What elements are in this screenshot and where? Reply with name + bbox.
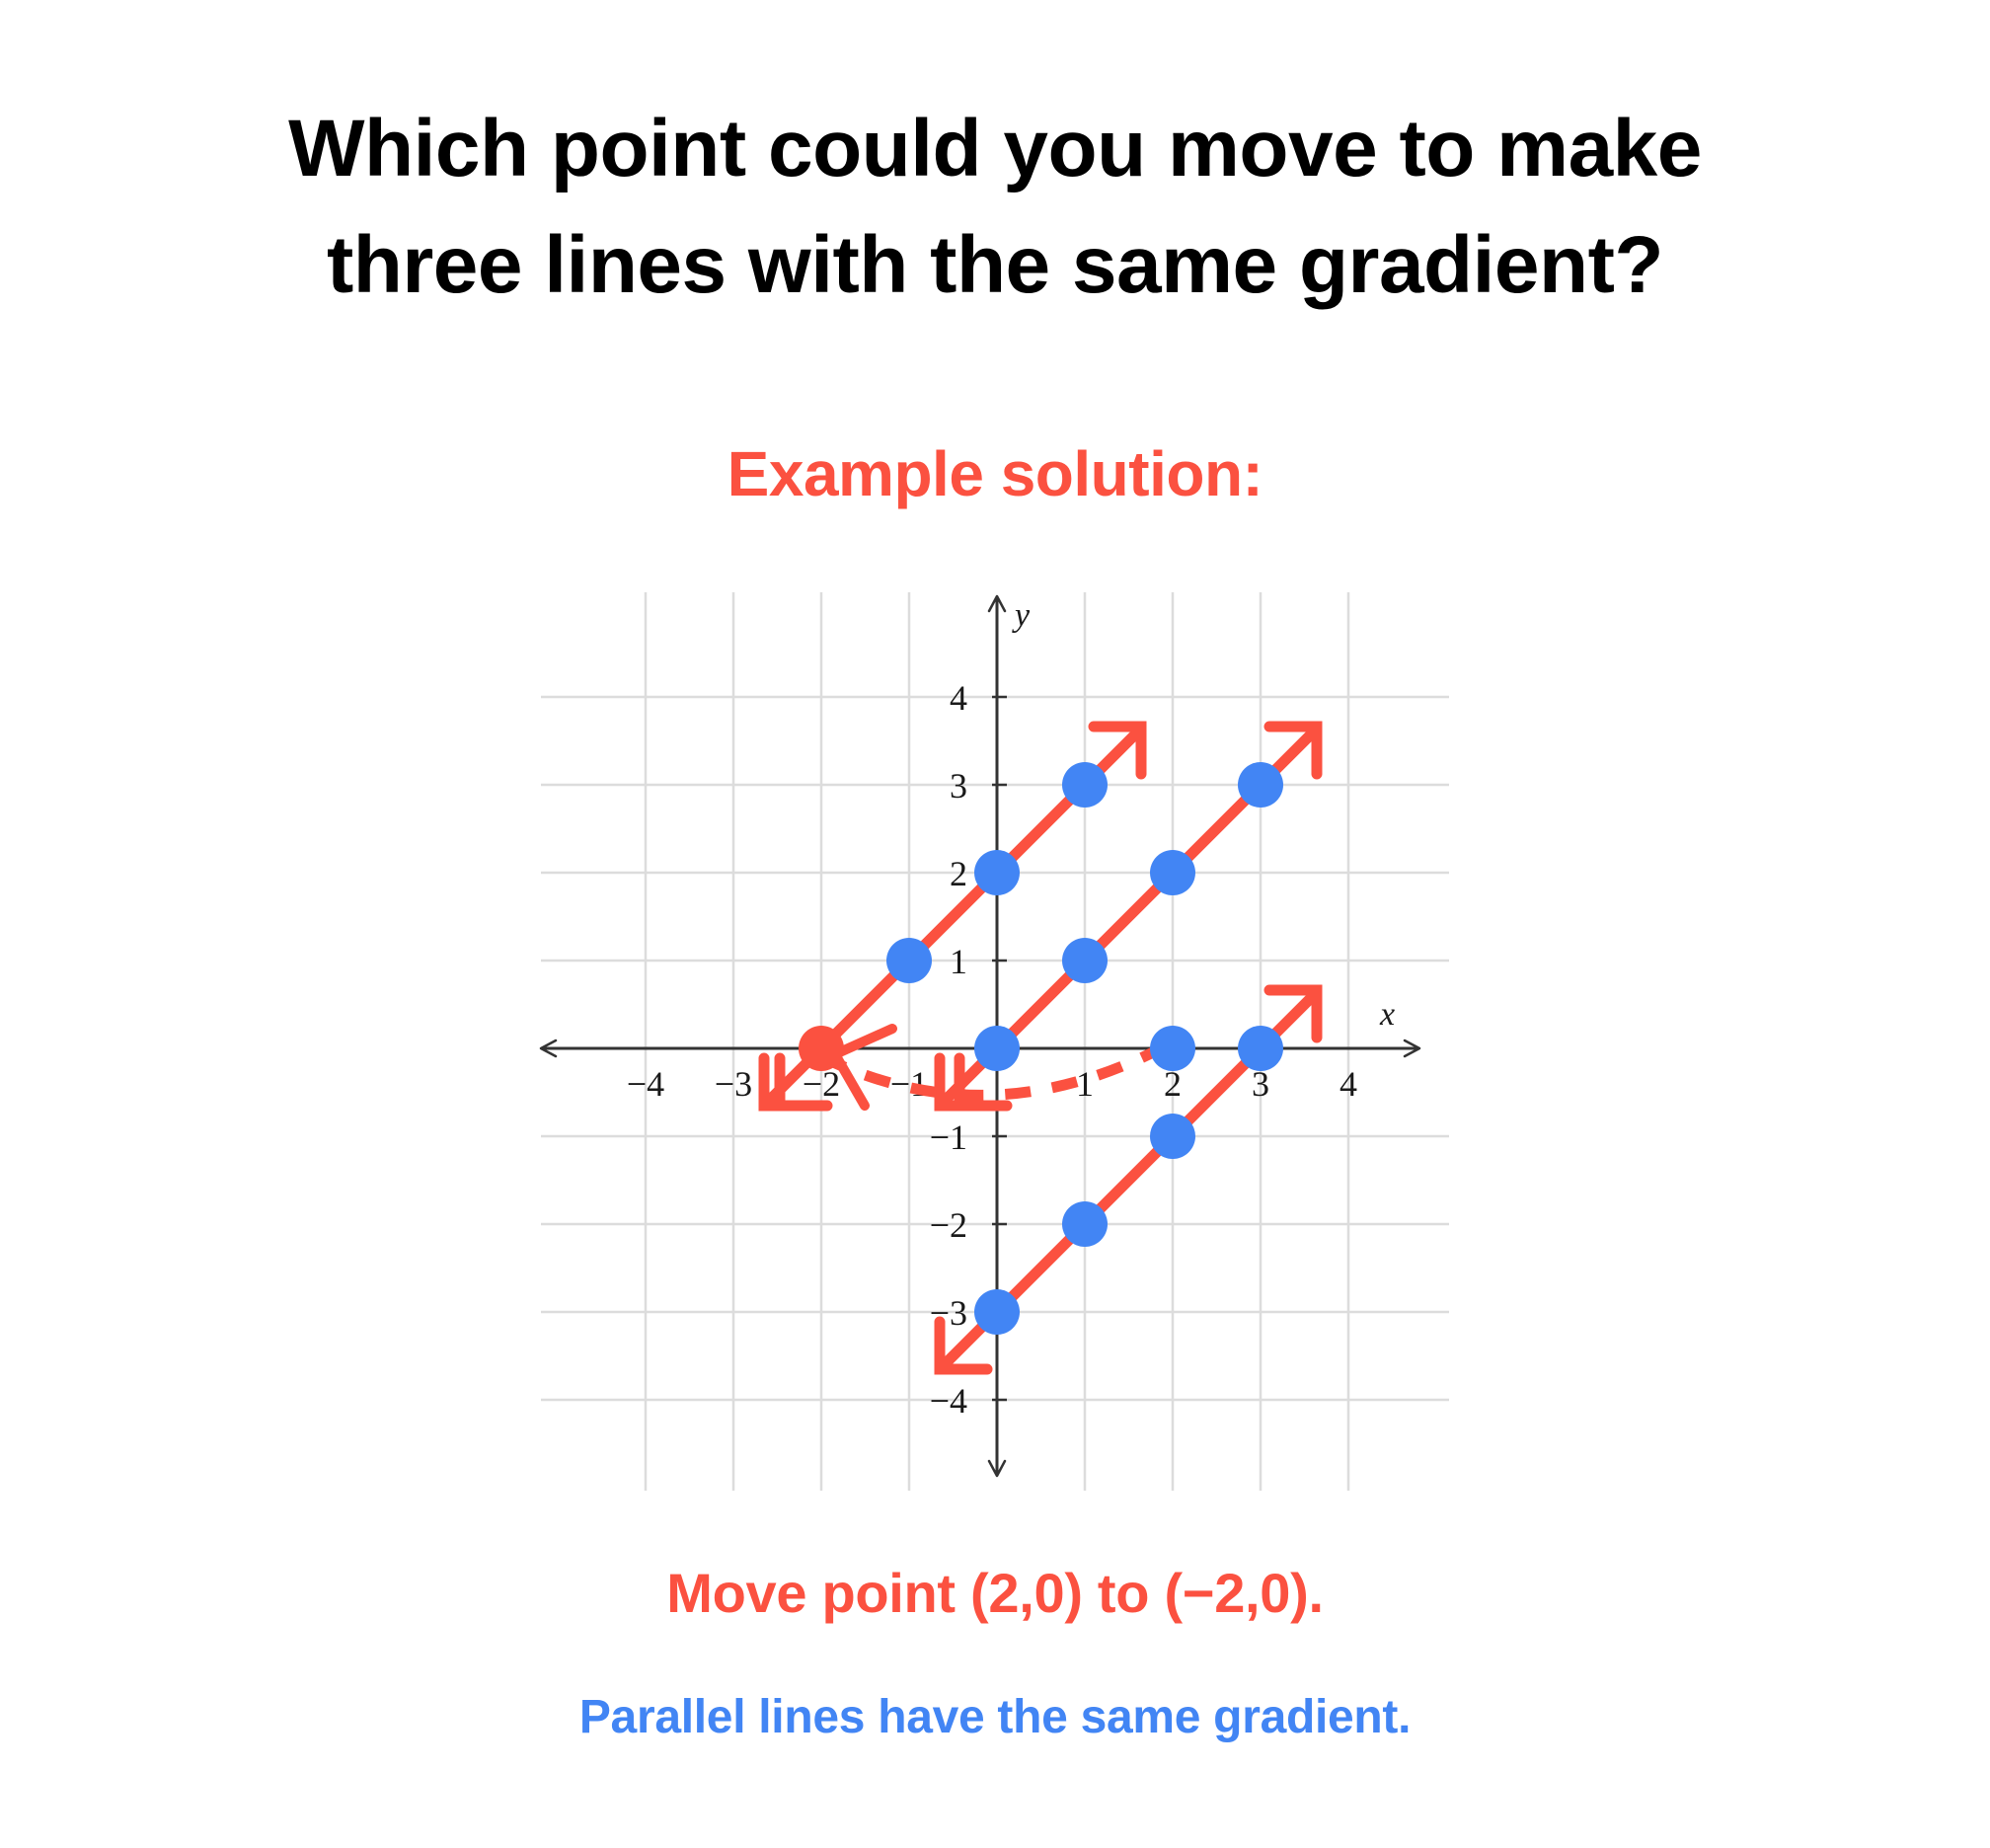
example-solution-heading: Example solution: — [0, 434, 1990, 513]
xtick-minus1: −1 — [890, 1064, 928, 1104]
ytick-minus2: −2 — [930, 1205, 967, 1245]
y-axis-label: y — [1012, 597, 1031, 634]
point-2-2[interactable] — [1150, 850, 1195, 895]
point-original-2-0[interactable] — [1150, 1026, 1195, 1071]
ytick-1: 1 — [950, 942, 967, 981]
point-minus1-1[interactable] — [886, 938, 932, 983]
point-3-3[interactable] — [1238, 762, 1283, 808]
xtick-minus3: −3 — [715, 1064, 752, 1104]
ytick-minus4: −4 — [930, 1381, 967, 1421]
point-1-3[interactable] — [1062, 762, 1108, 808]
point-1-minus2[interactable] — [1062, 1201, 1108, 1247]
ytick-2: 2 — [950, 854, 967, 893]
coordinate-graph: x y −4 −3 −2 −1 1 2 3 4 4 3 2 1 −1 −2 — [501, 582, 1489, 1501]
xtick-minus4: −4 — [627, 1064, 664, 1104]
page-title: Which point could you move to make three… — [0, 91, 1990, 324]
point-3-0[interactable] — [1238, 1026, 1283, 1071]
x-axis-label: x — [1379, 996, 1395, 1033]
title-line-2: three lines with the same gradient? — [0, 207, 1990, 324]
point-2-minus1[interactable] — [1150, 1114, 1195, 1159]
point-0-minus3[interactable] — [974, 1289, 1020, 1335]
point-1-1[interactable] — [1062, 938, 1108, 983]
title-line-1: Which point could you move to make — [0, 91, 1990, 207]
graph-svg: x y −4 −3 −2 −1 1 2 3 4 4 3 2 1 −1 −2 — [501, 582, 1489, 1501]
ytick-3: 3 — [950, 766, 967, 806]
point-0-2[interactable] — [974, 850, 1020, 895]
xtick-1: 1 — [1076, 1064, 1094, 1104]
ytick-4: 4 — [950, 678, 967, 718]
point-0-0[interactable] — [974, 1026, 1020, 1071]
slide-canvas: Which point could you move to make three… — [0, 0, 1990, 1848]
ytick-minus1: −1 — [930, 1117, 967, 1157]
point-moved-minus2-0[interactable] — [799, 1026, 844, 1071]
solution-caption: Move point (2,0) to (−2,0). — [0, 1558, 1990, 1629]
xtick-4: 4 — [1339, 1064, 1357, 1104]
explanation-caption: Parallel lines have the same gradient. — [0, 1686, 1990, 1749]
